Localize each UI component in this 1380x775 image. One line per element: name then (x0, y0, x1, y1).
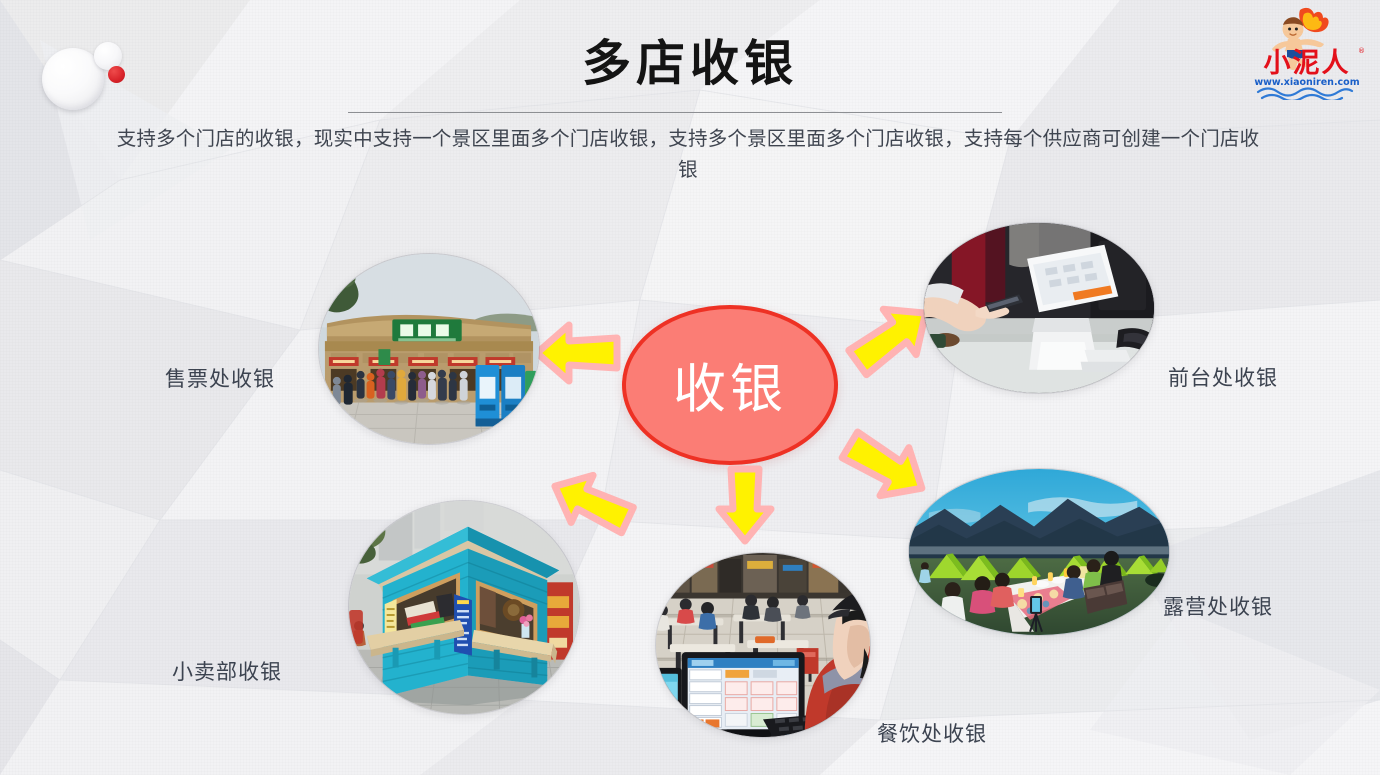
page-title: 多店收银 (0, 38, 1380, 89)
camping-photo[interactable] (908, 468, 1170, 636)
front-desk-photo[interactable] (923, 222, 1155, 394)
kiosk-photo[interactable] (348, 500, 580, 715)
arrow-to-ticket-office (529, 316, 625, 390)
restaurant-photo[interactable] (655, 552, 871, 738)
caption-kiosk: 小卖部收银 (172, 656, 282, 686)
title-divider (348, 112, 1002, 113)
arrow-to-restaurant (709, 463, 781, 547)
ticket-office-photo[interactable] (318, 253, 540, 445)
caption-restaurant: 餐饮处收银 (877, 718, 987, 748)
caption-camping: 露营处收银 (1163, 591, 1273, 621)
slide-canvas: 小泥人 ® www.xiaoniren.com 多店收银 支持多个门店的收银，现… (0, 0, 1380, 775)
center-hub[interactable]: 收银 (622, 305, 838, 465)
caption-front-desk: 前台处收银 (1168, 362, 1278, 392)
page-subtitle: 支持多个门店的收银，现实中支持一个景区里面多个门店收银，支持多个景区里面多个门店… (112, 124, 1264, 186)
center-hub-label: 收银 (673, 347, 787, 423)
caption-ticket-office: 售票处收银 (165, 363, 275, 393)
blue-wave-icon (1258, 89, 1352, 101)
